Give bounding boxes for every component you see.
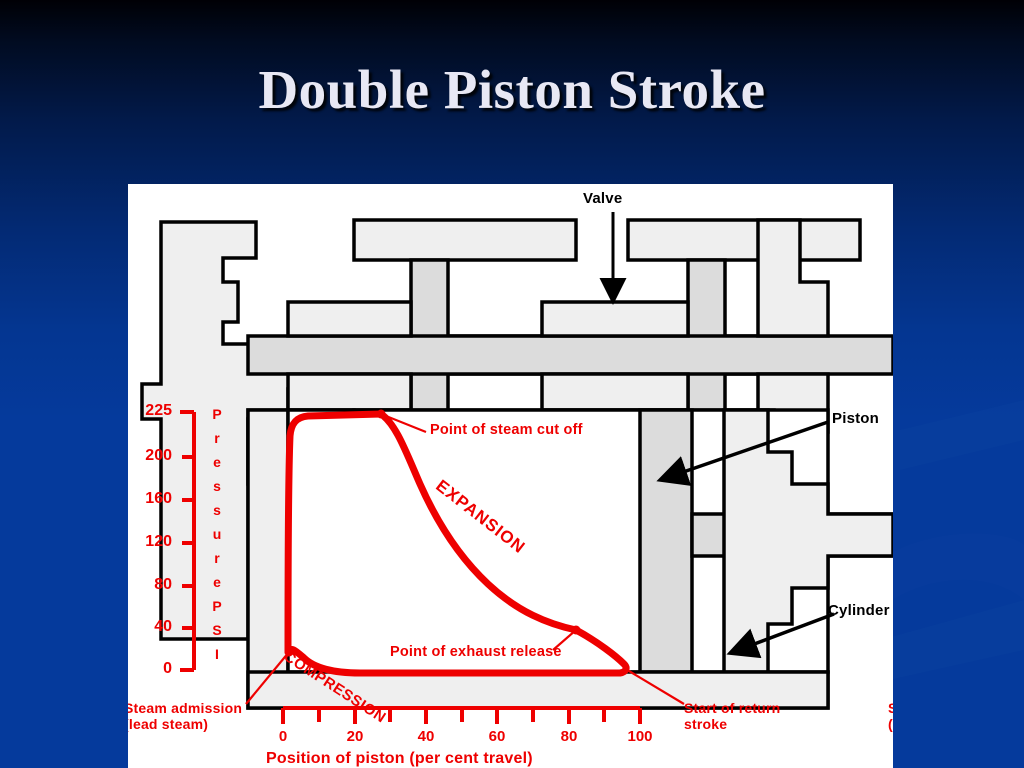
y-tick-label-80: 80 xyxy=(130,576,172,594)
cylinder-arrow xyxy=(733,614,834,652)
y-axis-title-char-I: I xyxy=(210,646,224,662)
y-axis-title-char-P2: P xyxy=(210,598,224,614)
label-valve: Valve xyxy=(583,190,622,207)
y-tick-label-225: 225 xyxy=(130,402,172,420)
label-point-of-exhaust-release: Point of exhaust release xyxy=(390,644,562,660)
y-axis-title-char-r2: r xyxy=(210,550,224,566)
y-axis-title-char-e1: e xyxy=(210,454,224,470)
x-tick-label-0: 0 xyxy=(263,728,303,745)
y-axis-title-char-u: u xyxy=(210,526,224,542)
y-axis-title-char-r: r xyxy=(210,430,224,446)
label-start-of-return-stroke: Start of return stroke xyxy=(684,700,780,732)
y-tick-label-120: 120 xyxy=(130,533,172,551)
y-tick-label-160: 160 xyxy=(130,490,172,508)
piston-arrow xyxy=(663,422,828,479)
x-tick-label-80: 80 xyxy=(549,728,589,745)
y-axis-title-char-s2: s xyxy=(210,502,224,518)
y-axis-title-char-s1: s xyxy=(210,478,224,494)
y-tick-label-0: 0 xyxy=(130,660,172,678)
y-axis-title-char-S: S xyxy=(210,622,224,638)
x-tick-label-100: 100 xyxy=(620,728,660,745)
y-axis-title-char-P1: P xyxy=(210,406,224,422)
x-tick-label-60: 60 xyxy=(477,728,517,745)
machine-callout-arrows xyxy=(128,184,893,768)
y-tick-label-200: 200 xyxy=(130,447,172,465)
label-cylinder: Cylinder xyxy=(828,602,890,619)
figure-panel: 225 200 160 120 80 40 0 P r e s s u r e … xyxy=(128,184,893,768)
y-tick-label-40: 40 xyxy=(130,618,172,636)
slide-title: Double Piston Stroke xyxy=(0,58,1024,121)
y-axis-title-char-e2: e xyxy=(210,574,224,590)
label-point-of-steam-cut-off: Point of steam cut off xyxy=(430,422,583,438)
x-axis-title: Position of piston (per cent travel) xyxy=(266,750,533,768)
label-steam-admission: Steam admission (lead steam) xyxy=(128,700,242,732)
x-tick-label-40: 40 xyxy=(406,728,446,745)
label-clipped-right-text: S ( xyxy=(888,700,893,732)
x-tick-label-20: 20 xyxy=(335,728,375,745)
label-piston: Piston xyxy=(832,410,879,427)
